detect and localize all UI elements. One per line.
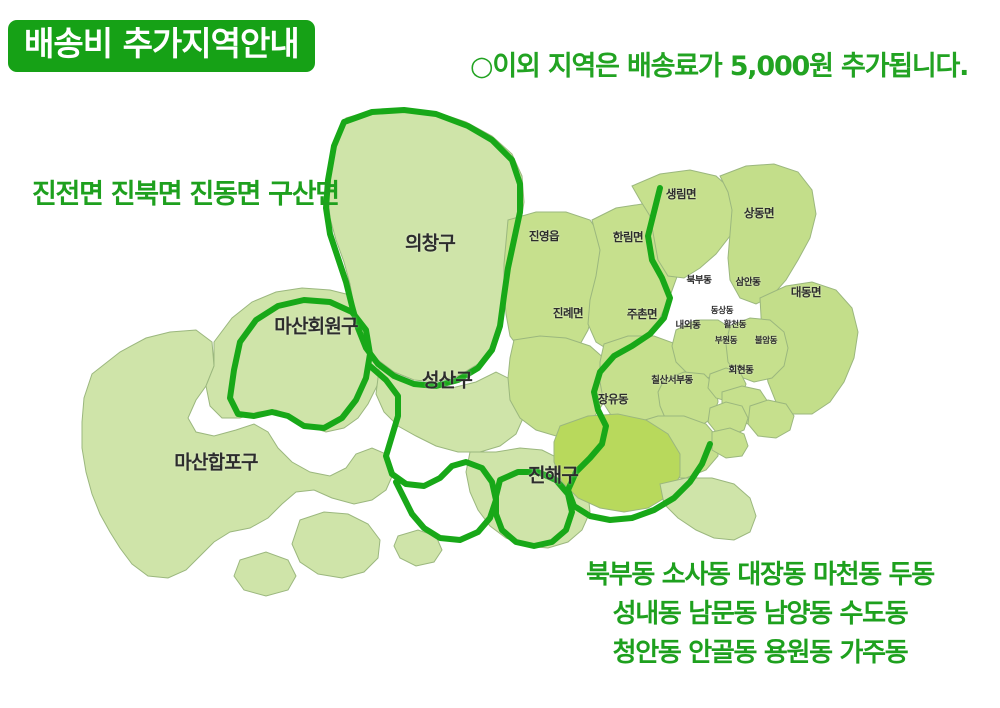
- map-label-hallim-myeon: 한림면: [613, 229, 643, 245]
- map-label-jinyeong-eup: 진영읍: [529, 228, 559, 244]
- map-label-masan-hoewon-gu: 마산회원구: [274, 312, 357, 339]
- changwon-gimhae-map: [0, 80, 1000, 600]
- region-coastal-fringe: [660, 478, 756, 540]
- note-bottom-line-2: 성내동 남문동 남양동 수도동: [560, 595, 960, 634]
- region-hoehyeon-dong: [712, 428, 748, 458]
- map-label-jinrye-myeon: 진례면: [553, 305, 583, 321]
- map-container: 의창구마산회원구마산합포구성산구진해구진영읍한림면생림면상동면대동면진례면주촌면…: [0, 80, 1000, 600]
- note-left-line-2: 진동면 구산면: [189, 179, 338, 210]
- map-label-jinhae-gu: 진해구: [528, 461, 578, 488]
- page-title-badge: 배송비 추가지역안내: [8, 20, 315, 72]
- map-label-hoehyeon-dong: 회현동: [728, 362, 753, 376]
- map-label-buwon-dong: 부원동: [715, 334, 738, 346]
- map-label-jangyu-dong: 장유동: [598, 391, 628, 407]
- map-label-hwalcheon-dong: 활천동: [724, 318, 747, 330]
- region-sangdong-myeon: [720, 164, 816, 304]
- map-label-bukbu-dong: 북부동: [686, 272, 711, 286]
- note-masan-extra-areas: 진전면 진북면 진동면 구산면: [32, 176, 339, 214]
- map-label-naeoe-dong: 내외동: [675, 317, 700, 331]
- note-left-line-1: 진전면 진북면: [32, 179, 181, 210]
- map-label-chilsanseobu-dong: 칠산서부동: [651, 372, 693, 386]
- map-label-daedong-myeon: 대동면: [791, 284, 821, 300]
- note-bottom-line-1: 북부동 소사동 대장동 마천동 두동: [560, 556, 960, 595]
- map-label-uichang-gu: 의창구: [405, 229, 455, 256]
- map-label-masan-happo-gu: 마산합포구: [174, 448, 257, 475]
- shipping-surcharge-note: ○이외 지역은 배송료가 5,000원 추가됩니다.: [470, 44, 968, 83]
- island-small-2: [234, 552, 296, 596]
- note-jinhae-extra-areas: 북부동 소사동 대장동 마천동 두동 성내동 남문동 남양동 수도동 청안동 안…: [560, 556, 960, 673]
- region-buram-dong: [748, 400, 794, 438]
- map-label-juchon-myeon: 주촌면: [627, 306, 657, 322]
- map-label-saman-dong: 삼안동: [735, 274, 760, 288]
- note-bottom-line-3: 청안동 안골동 용원동 가주동: [560, 634, 960, 673]
- map-label-dongsang-dong: 동상동: [711, 304, 734, 316]
- map-label-seongsan-gu: 성산구: [422, 366, 472, 393]
- map-label-saengnim-myeon: 생림면: [666, 186, 696, 202]
- map-label-buram-dong: 불암동: [755, 334, 778, 346]
- island-cluster-south: [292, 512, 380, 578]
- map-label-sangdong-myeon: 상동면: [744, 205, 774, 221]
